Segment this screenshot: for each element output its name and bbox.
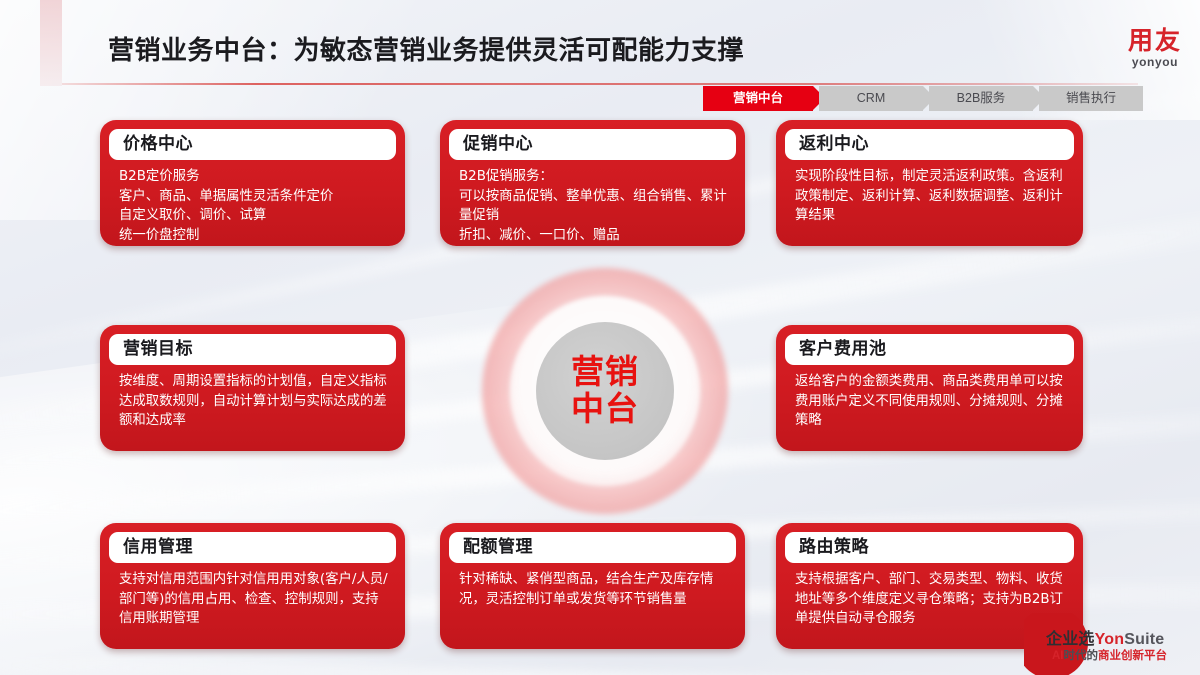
tab-marketing-midend[interactable]: 营销中台 — [703, 86, 813, 111]
card-customer-fee-pool[interactable]: 客户费用池 返给客户的金额类费用、商品类费用单可以按费用账户定义不同使用规则、分… — [776, 325, 1083, 451]
card-body: B2B定价服务 客户、商品、单据属性灵活条件定价 自定义取价、调价、试算 统一价… — [109, 160, 396, 245]
hub-core-circle: 营销 中台 — [536, 322, 674, 460]
watermark-line2: AI时代的商业创新平台 — [1052, 647, 1167, 663]
tab-label: CRM — [857, 91, 885, 105]
module-tabs: 营销中台 CRM B2B服务 销售执行 — [703, 86, 1143, 111]
card-marketing-goal[interactable]: 营销目标 按维度、周期设置指标的计划值，自定义指标达成取数规则，自动计算计划与实… — [100, 325, 405, 451]
card-body: 按维度、周期设置指标的计划值，自定义指标达成取数规则，自动计算计划与实际达成的差… — [109, 365, 396, 431]
yonsuite-watermark: 企业选YonSuite AI时代的商业创新平台 — [1024, 613, 1200, 675]
slide-canvas: 营销业务中台：为敏态营销业务提供灵活可配能力支撑 用友 yonyou 营销中台 … — [0, 0, 1200, 675]
card-title: 营销目标 — [109, 334, 396, 365]
card-price-center[interactable]: 价格中心 B2B定价服务 客户、商品、单据属性灵活条件定价 自定义取价、调价、试… — [100, 120, 405, 246]
card-title: 价格中心 — [109, 129, 396, 160]
card-quota-management[interactable]: 配额管理 针对稀缺、紧俏型商品，结合生产及库存情况，灵活控制订单或发货等环节销售… — [440, 523, 745, 649]
tab-label: 营销中台 — [733, 91, 783, 105]
watermark-era-text: 时代的 — [1064, 650, 1099, 662]
watermark-yon-text: Yon — [1095, 631, 1125, 648]
hub-label-line2: 中台 — [571, 391, 639, 428]
card-title: 返利中心 — [785, 129, 1074, 160]
watermark-platform-text: 商业创新平台 — [1098, 650, 1167, 662]
card-body: 实现阶段性目标，制定灵活返利政策。含返利政策制定、返利计算、返利数据调整、返利计… — [785, 160, 1074, 226]
card-promotion-center[interactable]: 促销中心 B2B促销服务： 可以按商品促销、整单优惠、组合销售、累计量促销 折扣… — [440, 120, 745, 246]
tab-label: 销售执行 — [1066, 91, 1116, 105]
card-body: 支持对信用范围内针对信用用对象(客户/人员/部门等)的信用占用、检查、控制规则，… — [109, 563, 396, 629]
card-credit-management[interactable]: 信用管理 支持对信用范围内针对信用用对象(客户/人员/部门等)的信用占用、检查、… — [100, 523, 405, 649]
tab-sales-execution[interactable]: 销售执行 — [1039, 86, 1143, 111]
card-title: 促销中心 — [449, 129, 736, 160]
watermark-line1: 企业选YonSuite — [1046, 625, 1164, 649]
card-body: B2B促销服务： 可以按商品促销、整单优惠、组合销售、累计量促销 折扣、减价、一… — [449, 160, 736, 245]
card-title: 配额管理 — [449, 532, 736, 563]
page-title: 营销业务中台：为敏态营销业务提供灵活可配能力支撑 — [108, 30, 744, 67]
tab-crm[interactable]: CRM — [819, 86, 923, 111]
tab-b2b-service[interactable]: B2B服务 — [929, 86, 1033, 111]
card-body: 针对稀缺、紧俏型商品，结合生产及库存情况，灵活控制订单或发货等环节销售量 — [449, 563, 736, 609]
tab-label: B2B服务 — [957, 91, 1006, 105]
title-divider — [62, 83, 1138, 85]
title-accent-bar — [40, 0, 62, 86]
card-body: 返给客户的金额类费用、商品类费用单可以按费用账户定义不同使用规则、分摊规则、分摊… — [785, 365, 1074, 431]
logo-en-text: yonyou — [1128, 56, 1182, 68]
watermark-suite-text: Suite — [1124, 631, 1164, 648]
card-title: 路由策略 — [785, 532, 1074, 563]
logo-cn-text: 用友 — [1128, 28, 1182, 53]
watermark-cn-text: 企业选 — [1046, 631, 1095, 648]
card-rebate-center[interactable]: 返利中心 实现阶段性目标，制定灵活返利政策。含返利政策制定、返利计算、返利数据调… — [776, 120, 1083, 246]
hub-label-line1: 营销 — [571, 354, 639, 391]
card-title: 客户费用池 — [785, 334, 1074, 365]
card-title: 信用管理 — [109, 532, 396, 563]
yonyou-logo: 用友 yonyou — [1128, 28, 1182, 68]
marketing-hub-emblem: 营销 中台 — [482, 268, 728, 514]
watermark-ai-text: AI — [1052, 650, 1064, 662]
